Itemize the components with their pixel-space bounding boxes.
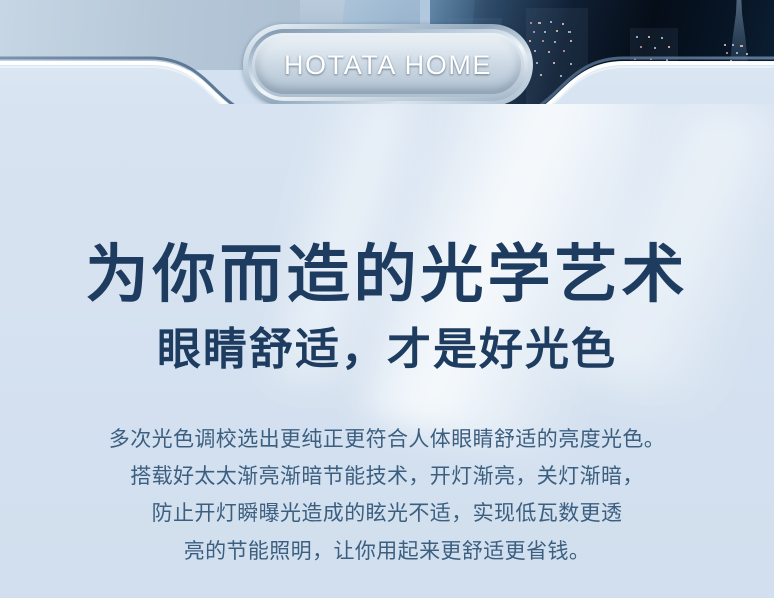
description-line: 防止开灯瞬曝光造成的眩光不适，实现低瓦数更透 — [0, 495, 774, 532]
hero-description: 多次光色调校选出更纯正更符合人体眼睛舒适的亮度光色。 搭载好太太渐亮渐暗节能技术… — [0, 375, 774, 571]
product-poster: HOTATA HOME 为你而造的光学艺术 眼睛舒适，才是好光色 多次光色调校选… — [0, 0, 774, 598]
brand-badge[interactable]: HOTATA HOME — [243, 24, 533, 106]
hero-body: 为你而造的光学艺术 眼睛舒适，才是好光色 多次光色调校选出更纯正更符合人体眼睛舒… — [0, 104, 774, 598]
description-line: 亮的节能照明，让你用起来更舒适更省钱。 — [0, 533, 774, 570]
description-line: 搭载好太太渐亮渐暗节能技术，开灯渐亮，关灯渐暗， — [0, 458, 774, 495]
description-line: 多次光色调校选出更纯正更符合人体眼睛舒适的亮度光色。 — [0, 421, 774, 458]
hero-headline: 为你而造的光学艺术 — [0, 104, 774, 308]
hero-subheadline: 眼睛舒适，才是好光色 — [0, 308, 774, 374]
hero-content: 为你而造的光学艺术 眼睛舒适，才是好光色 多次光色调校选出更纯正更符合人体眼睛舒… — [0, 104, 774, 570]
badge-face: HOTATA HOME — [255, 36, 521, 94]
brand-name-label: HOTATA HOME — [284, 50, 492, 81]
